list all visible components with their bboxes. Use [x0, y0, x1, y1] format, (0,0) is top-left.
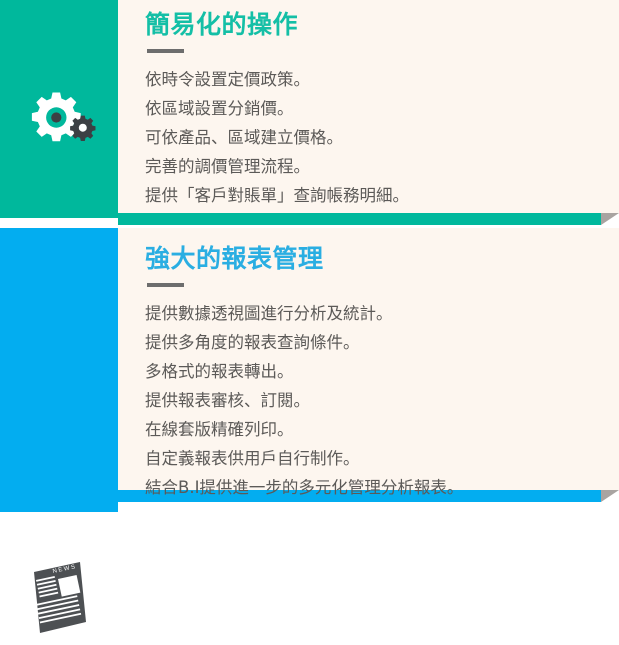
card-accent-bottom-bar: [118, 213, 601, 225]
page-fold-corner: [601, 213, 619, 225]
list-item: 提供報表審核、訂閱。: [145, 386, 599, 415]
list-item: 依區域設置分銷價。: [145, 94, 599, 123]
list-item: 多格式的報表轉出。: [145, 357, 599, 386]
card-title: 簡易化的操作: [145, 10, 599, 40]
list-item: 在線套版精確列印。: [145, 415, 599, 444]
card-accent-panel: [0, 228, 118, 512]
list-item: 完善的調價管理流程。: [145, 152, 599, 181]
list-item: 自定義報表供用戶自行制作。: [145, 444, 599, 473]
feature-list: 提供數據透視圖進行分析及統計。 提供多角度的報表查詢條件。 多格式的報表轉出。 …: [145, 299, 599, 502]
newspaper-icon: NEWS: [30, 562, 92, 640]
feature-cards-stage: 簡易化的操作 依時令設置定價政策。 依區域設置分銷價。 可依產品、區域建立價格。…: [0, 0, 619, 518]
card-content: 簡易化的操作 依時令設置定價政策。 依區域設置分銷價。 可依產品、區域建立價格。…: [145, 10, 599, 210]
title-underline-rule: [147, 283, 184, 287]
list-item: 結合B.I提供進一步的多元化管理分析報表。: [145, 473, 599, 502]
list-item: 提供「客戶對賬單」查詢帳務明細。: [145, 181, 599, 210]
list-item: 可依產品、區域建立價格。: [145, 123, 599, 152]
feature-list: 依時令設置定價政策。 依區域設置分銷價。 可依產品、區域建立價格。 完善的調價管…: [145, 65, 599, 210]
list-item: 依時令設置定價政策。: [145, 65, 599, 94]
gears-icon: [26, 86, 96, 144]
list-item: 提供數據透視圖進行分析及統計。: [145, 299, 599, 328]
card-title: 強大的報表管理: [145, 244, 599, 274]
feature-card-features: 簡易化的操作 依時令設置定價政策。 依區域設置分銷價。 可依產品、區域建立價格。…: [0, 0, 619, 225]
list-item: 提供多角度的報表查詢條件。: [145, 328, 599, 357]
feature-card-reports: NEWS: [0, 228, 619, 518]
title-underline-rule: [147, 49, 184, 53]
card-content: 強大的報表管理 提供數據透視圖進行分析及統計。 提供多角度的報表查詢條件。 多格…: [145, 244, 599, 502]
page-fold-corner: [601, 490, 619, 502]
